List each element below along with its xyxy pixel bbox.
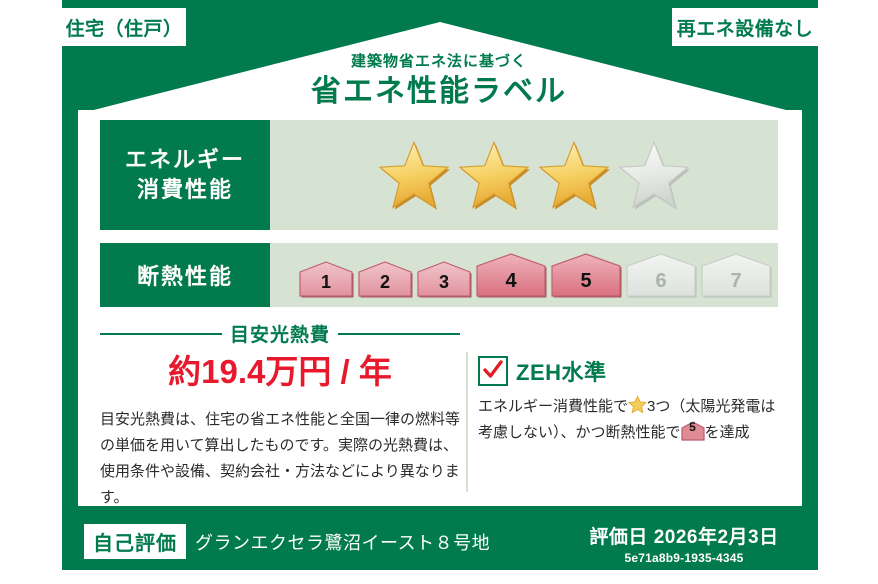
insulation-grade-badge: 7 xyxy=(700,252,772,298)
insulation-grade-value: 4 xyxy=(475,270,547,293)
inline-grade-badge: 5 xyxy=(681,421,705,441)
inline-grade-value: 5 xyxy=(681,414,705,440)
energy-consumption-row: エネルギー 消費性能 xyxy=(100,120,778,230)
insulation-performance-row: 断熱性能 1234567 xyxy=(100,243,778,307)
insulation-performance-label: 断熱性能 xyxy=(100,243,270,307)
evaluation-date-value: 2026年2月3日 xyxy=(654,527,779,548)
self-evaluation-badge: 自己評価 xyxy=(84,524,186,559)
tag-renewable-energy: 再エネ設備なし xyxy=(672,8,818,46)
evaluation-date: 評価日 2026年2月3日 xyxy=(560,522,808,549)
insulation-grade-value: 3 xyxy=(416,272,472,293)
insulation-grade-scale: 1234567 xyxy=(298,252,772,298)
utility-cost-title: 目安光熱費 xyxy=(230,320,330,347)
zeh-description-part3: を達成 xyxy=(705,424,750,441)
tag-building-type-text: 住宅（住戸） xyxy=(65,14,182,41)
star-rating xyxy=(377,139,691,211)
zeh-heading: ZEH水準 xyxy=(478,355,784,387)
checkmark-icon xyxy=(478,356,508,386)
tag-renewable-energy-text: 再エネ設備なし xyxy=(677,14,814,41)
energy-consumption-label-line2: 消費性能 xyxy=(137,175,233,205)
insulation-grade-badge: 3 xyxy=(416,260,472,298)
zeh-description: エネルギー消費性能で 3つ（太陽光発電は考慮しない）、かつ断熱性能で 5 を達成 xyxy=(478,394,784,446)
title-subtitle: 建築物省エネ法に基づく xyxy=(0,52,878,72)
insulation-grade-value: 5 xyxy=(550,270,622,293)
star-filled-icon xyxy=(537,139,611,211)
building-name: グランエクセラ鷺沼イースト８号地 xyxy=(195,529,490,555)
utility-cost-heading: 目安光熱費 xyxy=(100,320,460,347)
star-filled-icon xyxy=(377,139,451,211)
title-block: 建築物省エネ法に基づく 省エネ性能ラベル xyxy=(0,52,878,111)
utility-cost-disclaimer: 目安光熱費は、住宅の省エネ性能と全国一律の燃料等の単価を用いて算出したものです。… xyxy=(100,407,472,511)
insulation-grade-badge: 4 xyxy=(475,252,547,298)
zeh-title: ZEH水準 xyxy=(516,355,607,387)
energy-consumption-label-line1: エネルギー xyxy=(125,145,245,175)
energy-consumption-label: エネルギー 消費性能 xyxy=(100,120,270,230)
heading-rule-right xyxy=(338,333,460,335)
insulation-performance-label-text: 断熱性能 xyxy=(137,259,233,291)
star-empty-icon xyxy=(617,139,691,211)
zeh-divider xyxy=(466,352,468,492)
insulation-grade-badge: 6 xyxy=(625,252,697,298)
insulation-grade-badge: 5 xyxy=(550,252,622,298)
heading-rule-left xyxy=(100,333,222,335)
insulation-performance-value: 1234567 xyxy=(270,243,778,307)
insulation-grade-value: 7 xyxy=(700,270,772,293)
insulation-grade-value: 2 xyxy=(357,272,413,293)
inline-star-icon xyxy=(628,395,647,414)
evaluation-id: 5e71a8b9-1935-4345 xyxy=(560,551,808,565)
insulation-grade-badge: 2 xyxy=(357,260,413,298)
energy-performance-label: 住宅（住戸） 再エネ設備なし 建築物省エネ法に基づく 省エネ性能ラベル エネルギ… xyxy=(0,0,878,584)
insulation-grade-value: 1 xyxy=(298,272,354,293)
insulation-grade-badge: 1 xyxy=(298,260,354,298)
insulation-grade-value: 6 xyxy=(625,270,697,293)
footer-left: 自己評価 グランエクセラ鷺沼イースト８号地 xyxy=(84,524,490,559)
zeh-standard-block: ZEH水準 エネルギー消費性能で 3つ（太陽光発電は考慮しない）、かつ断熱性能で… xyxy=(478,355,784,446)
star-filled-icon xyxy=(457,139,531,211)
tag-building-type: 住宅（住戸） xyxy=(62,8,186,46)
page-title: 省エネ性能ラベル xyxy=(0,73,878,111)
utility-cost-amount: 約19.4万円 / 年 xyxy=(100,345,460,393)
footer-right: 評価日 2026年2月3日 5e71a8b9-1935-4345 xyxy=(560,522,808,565)
zeh-description-part1: エネルギー消費性能で xyxy=(478,398,628,415)
evaluation-date-label: 評価日 xyxy=(589,527,648,548)
energy-consumption-value xyxy=(270,120,778,230)
